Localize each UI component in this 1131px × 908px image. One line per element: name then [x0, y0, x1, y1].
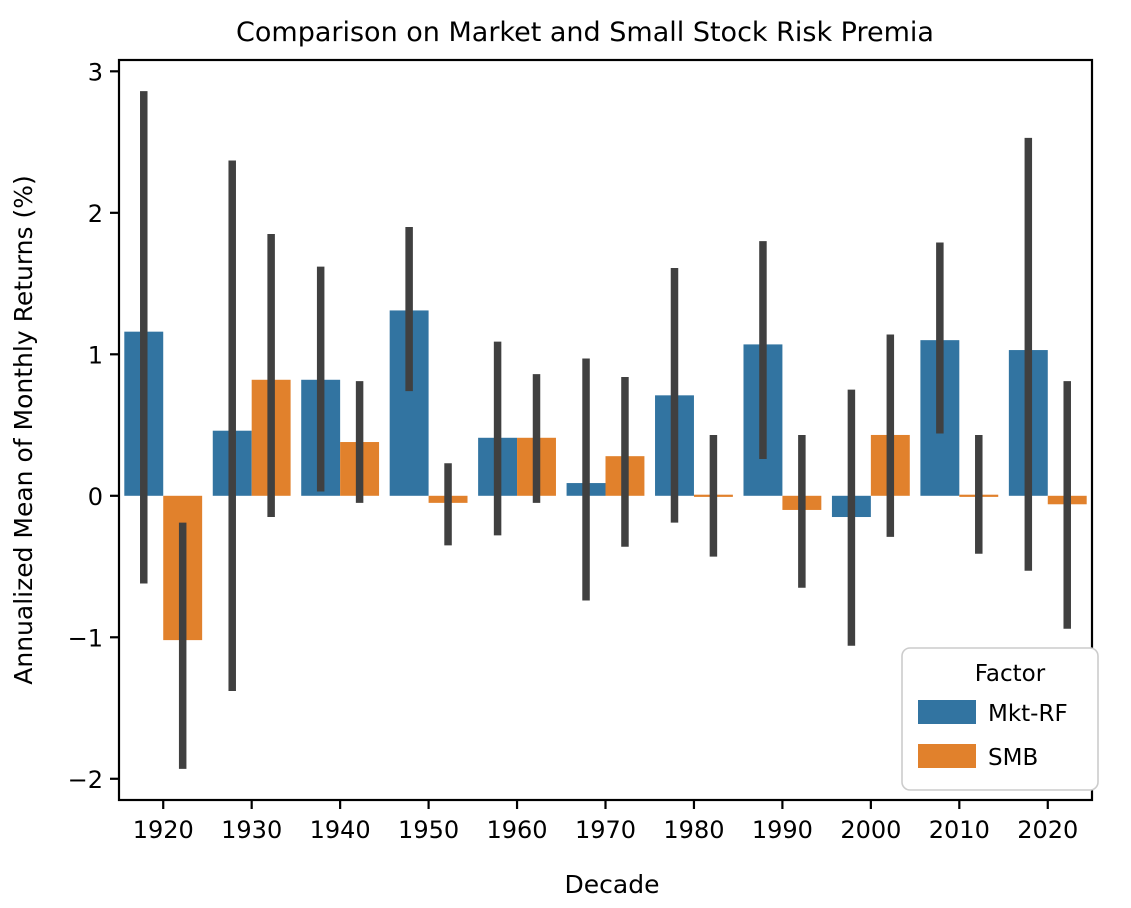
x-tick-label-2000: 2000 — [840, 816, 901, 844]
x-axis-ticks: 1920193019401950196019701980199020002010… — [133, 800, 1079, 844]
chart-title: Comparison on Market and Small Stock Ris… — [236, 17, 934, 48]
x-tick-label-1960: 1960 — [487, 816, 548, 844]
y-tick-label: 3 — [88, 58, 103, 86]
bar-chart-comparison-market-small-stock-risk-premia: Comparison on Market and Small Stock Ris… — [0, 0, 1131, 908]
y-axis-ticks: −2−10123 — [68, 58, 119, 793]
x-tick-label-2010: 2010 — [929, 816, 990, 844]
y-axis-label: Annualized Mean of Monthly Returns (%) — [9, 175, 38, 685]
figure-container: Comparison on Market and Small Stock Ris… — [0, 0, 1131, 908]
x-tick-label-1930: 1930 — [221, 816, 282, 844]
x-tick-label-1980: 1980 — [663, 816, 724, 844]
y-tick-label: 2 — [88, 200, 103, 228]
legend-label-mkt-rf[interactable]: Mkt-RF — [988, 701, 1068, 727]
x-tick-label-1970: 1970 — [575, 816, 636, 844]
y-tick-label: 0 — [88, 483, 103, 511]
legend-title: Factor — [975, 661, 1046, 687]
y-tick-label: −1 — [68, 624, 103, 652]
y-tick-label: 1 — [88, 341, 103, 369]
legend-swatch-smb[interactable] — [918, 744, 976, 768]
x-tick-label-1940: 1940 — [310, 816, 371, 844]
x-axis-label: Decade — [565, 870, 660, 899]
y-tick-label: −2 — [68, 766, 103, 794]
x-tick-label-1990: 1990 — [752, 816, 813, 844]
legend[interactable]: FactorMkt-RFSMB — [902, 648, 1098, 790]
legend-swatch-mkt-rf[interactable] — [918, 700, 976, 724]
legend-label-smb[interactable]: SMB — [988, 745, 1038, 771]
x-tick-label-2020: 2020 — [1017, 816, 1078, 844]
x-tick-label-1920: 1920 — [133, 816, 194, 844]
x-tick-label-1950: 1950 — [398, 816, 459, 844]
